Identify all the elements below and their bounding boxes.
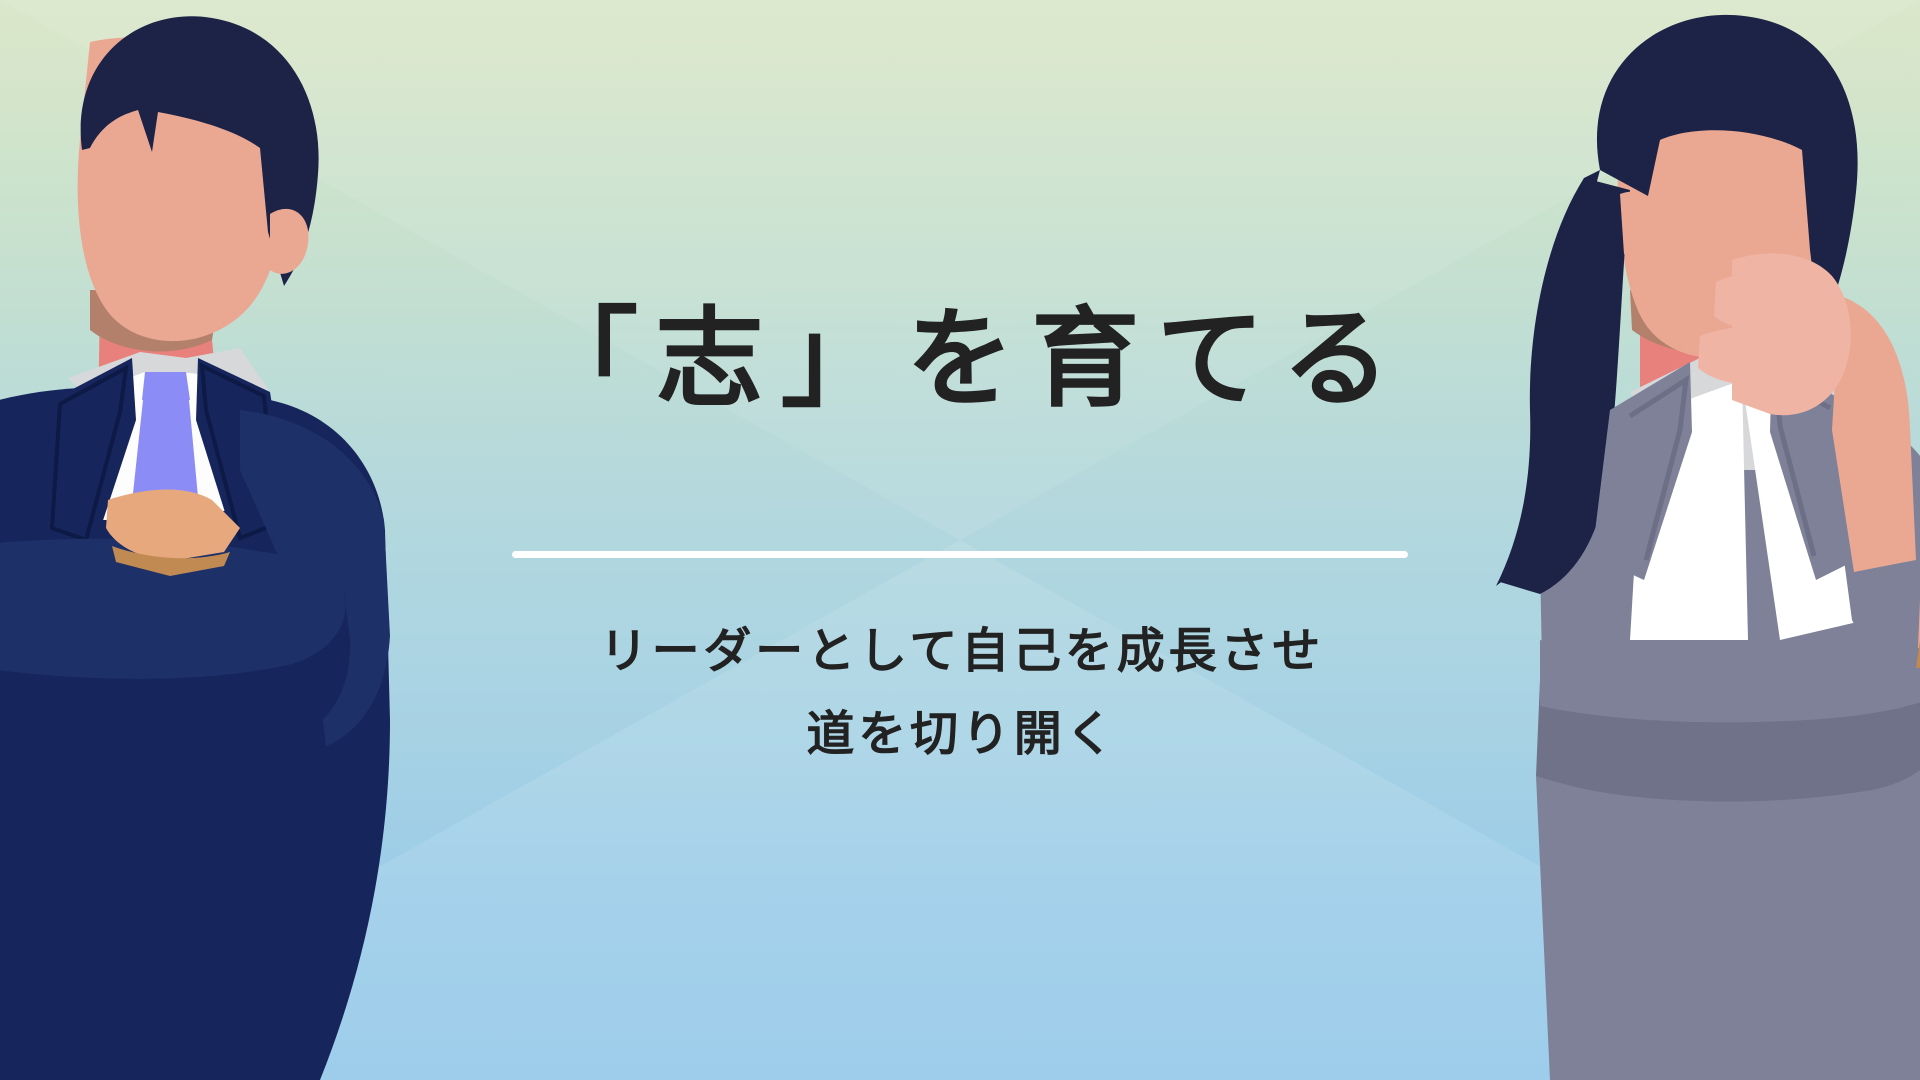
hero-subtitle: リーダーとして自己を成長させ 道を切り開く <box>596 610 1324 775</box>
subtitle-line-1: リーダーとして自己を成長させ <box>596 610 1324 693</box>
title-divider <box>512 551 1408 558</box>
businesswoman-illustration <box>1480 0 1920 1080</box>
page-title: 「志」を育てる <box>513 302 1407 419</box>
businessman-illustration <box>0 0 460 1080</box>
subtitle-line-2: 道を切り開く <box>596 693 1324 776</box>
hero-banner: 「志」を育てる リーダーとして自己を成長させ 道を切り開く <box>0 0 1920 1080</box>
